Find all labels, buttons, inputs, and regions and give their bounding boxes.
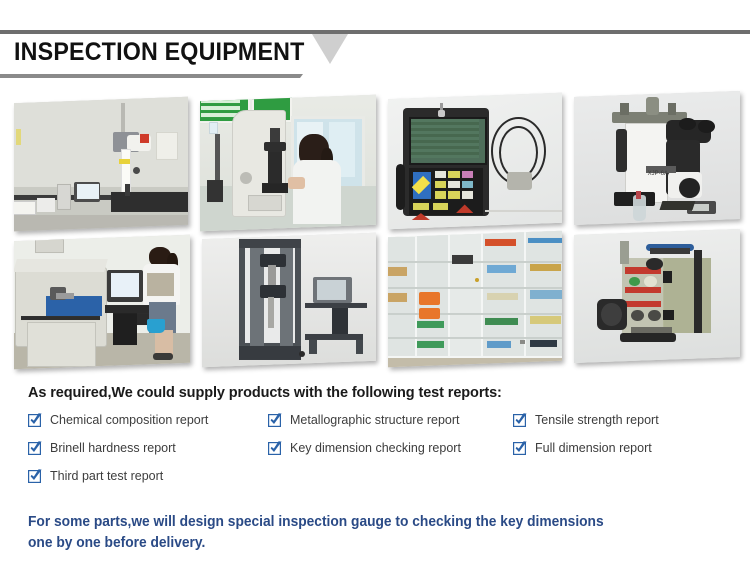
report-item-label: Chemical composition report [50, 413, 208, 427]
report-row-1: Chemical composition report Metallograph… [28, 413, 728, 441]
report-item-key-dimension-checking[interactable]: Key dimension checking report [268, 441, 461, 455]
photo-gauge-storage-cabinets[interactable] [388, 231, 562, 367]
report-row-3: Third part test report [28, 469, 728, 497]
photo-magnetic-particle-flaw-detector[interactable] [574, 229, 740, 363]
check-icon [268, 413, 282, 427]
report-item-label: Third part test report [50, 469, 163, 483]
photo-ultrasonic-flaw-detector[interactable] [388, 93, 562, 229]
report-item-label: Tensile strength report [535, 413, 659, 427]
report-item-label: Key dimension checking report [290, 441, 461, 455]
check-icon [28, 441, 42, 455]
report-item-label: Full dimension report [535, 441, 652, 455]
report-item-metallographic-structure[interactable]: Metallographic structure report [268, 413, 460, 427]
note-line-2: one by one before delivery. [28, 533, 684, 554]
check-icon [513, 413, 527, 427]
report-item-brinell-hardness[interactable]: Brinell hardness report [28, 441, 176, 455]
report-item-label: Metallographic structure report [290, 413, 460, 427]
reports-heading: As required,We could supply products wit… [28, 385, 728, 401]
photo-universal-tensile-testing-machine[interactable] [202, 233, 376, 367]
photo-metallurgical-microscope[interactable]: XJP-6A [574, 91, 740, 225]
header-top-rule [0, 30, 750, 34]
check-icon [513, 441, 527, 455]
photo-spectrometer-operator[interactable] [14, 235, 190, 369]
inspection-gauge-note: For some parts,we will design special in… [28, 512, 684, 554]
photo-hardness-tester-operator[interactable] [200, 95, 376, 231]
report-item-label: Brinell hardness report [50, 441, 176, 455]
check-icon [268, 441, 282, 455]
report-row-2: Brinell hardness report Key dimension ch… [28, 441, 728, 469]
equipment-photo-gallery: XJP-6A [14, 90, 740, 377]
page-title: INSPECTION EQUIPMENT [14, 35, 305, 69]
report-item-chemical-composition[interactable]: Chemical composition report [28, 413, 208, 427]
header-bottom-rule [0, 74, 330, 78]
check-icon [28, 469, 42, 483]
note-line-1: For some parts,we will design special in… [28, 512, 684, 533]
report-item-tensile-strength[interactable]: Tensile strength report [513, 413, 659, 427]
page-header: INSPECTION EQUIPMENT [0, 30, 750, 78]
check-icon [28, 413, 42, 427]
photo-coordinate-measuring-machine[interactable] [14, 97, 188, 231]
header-triangle-accent-icon [312, 34, 348, 64]
report-item-third-part-test[interactable]: Third part test report [28, 469, 163, 483]
test-reports-section: As required,We could supply products wit… [28, 385, 728, 497]
report-item-full-dimension[interactable]: Full dimension report [513, 441, 652, 455]
